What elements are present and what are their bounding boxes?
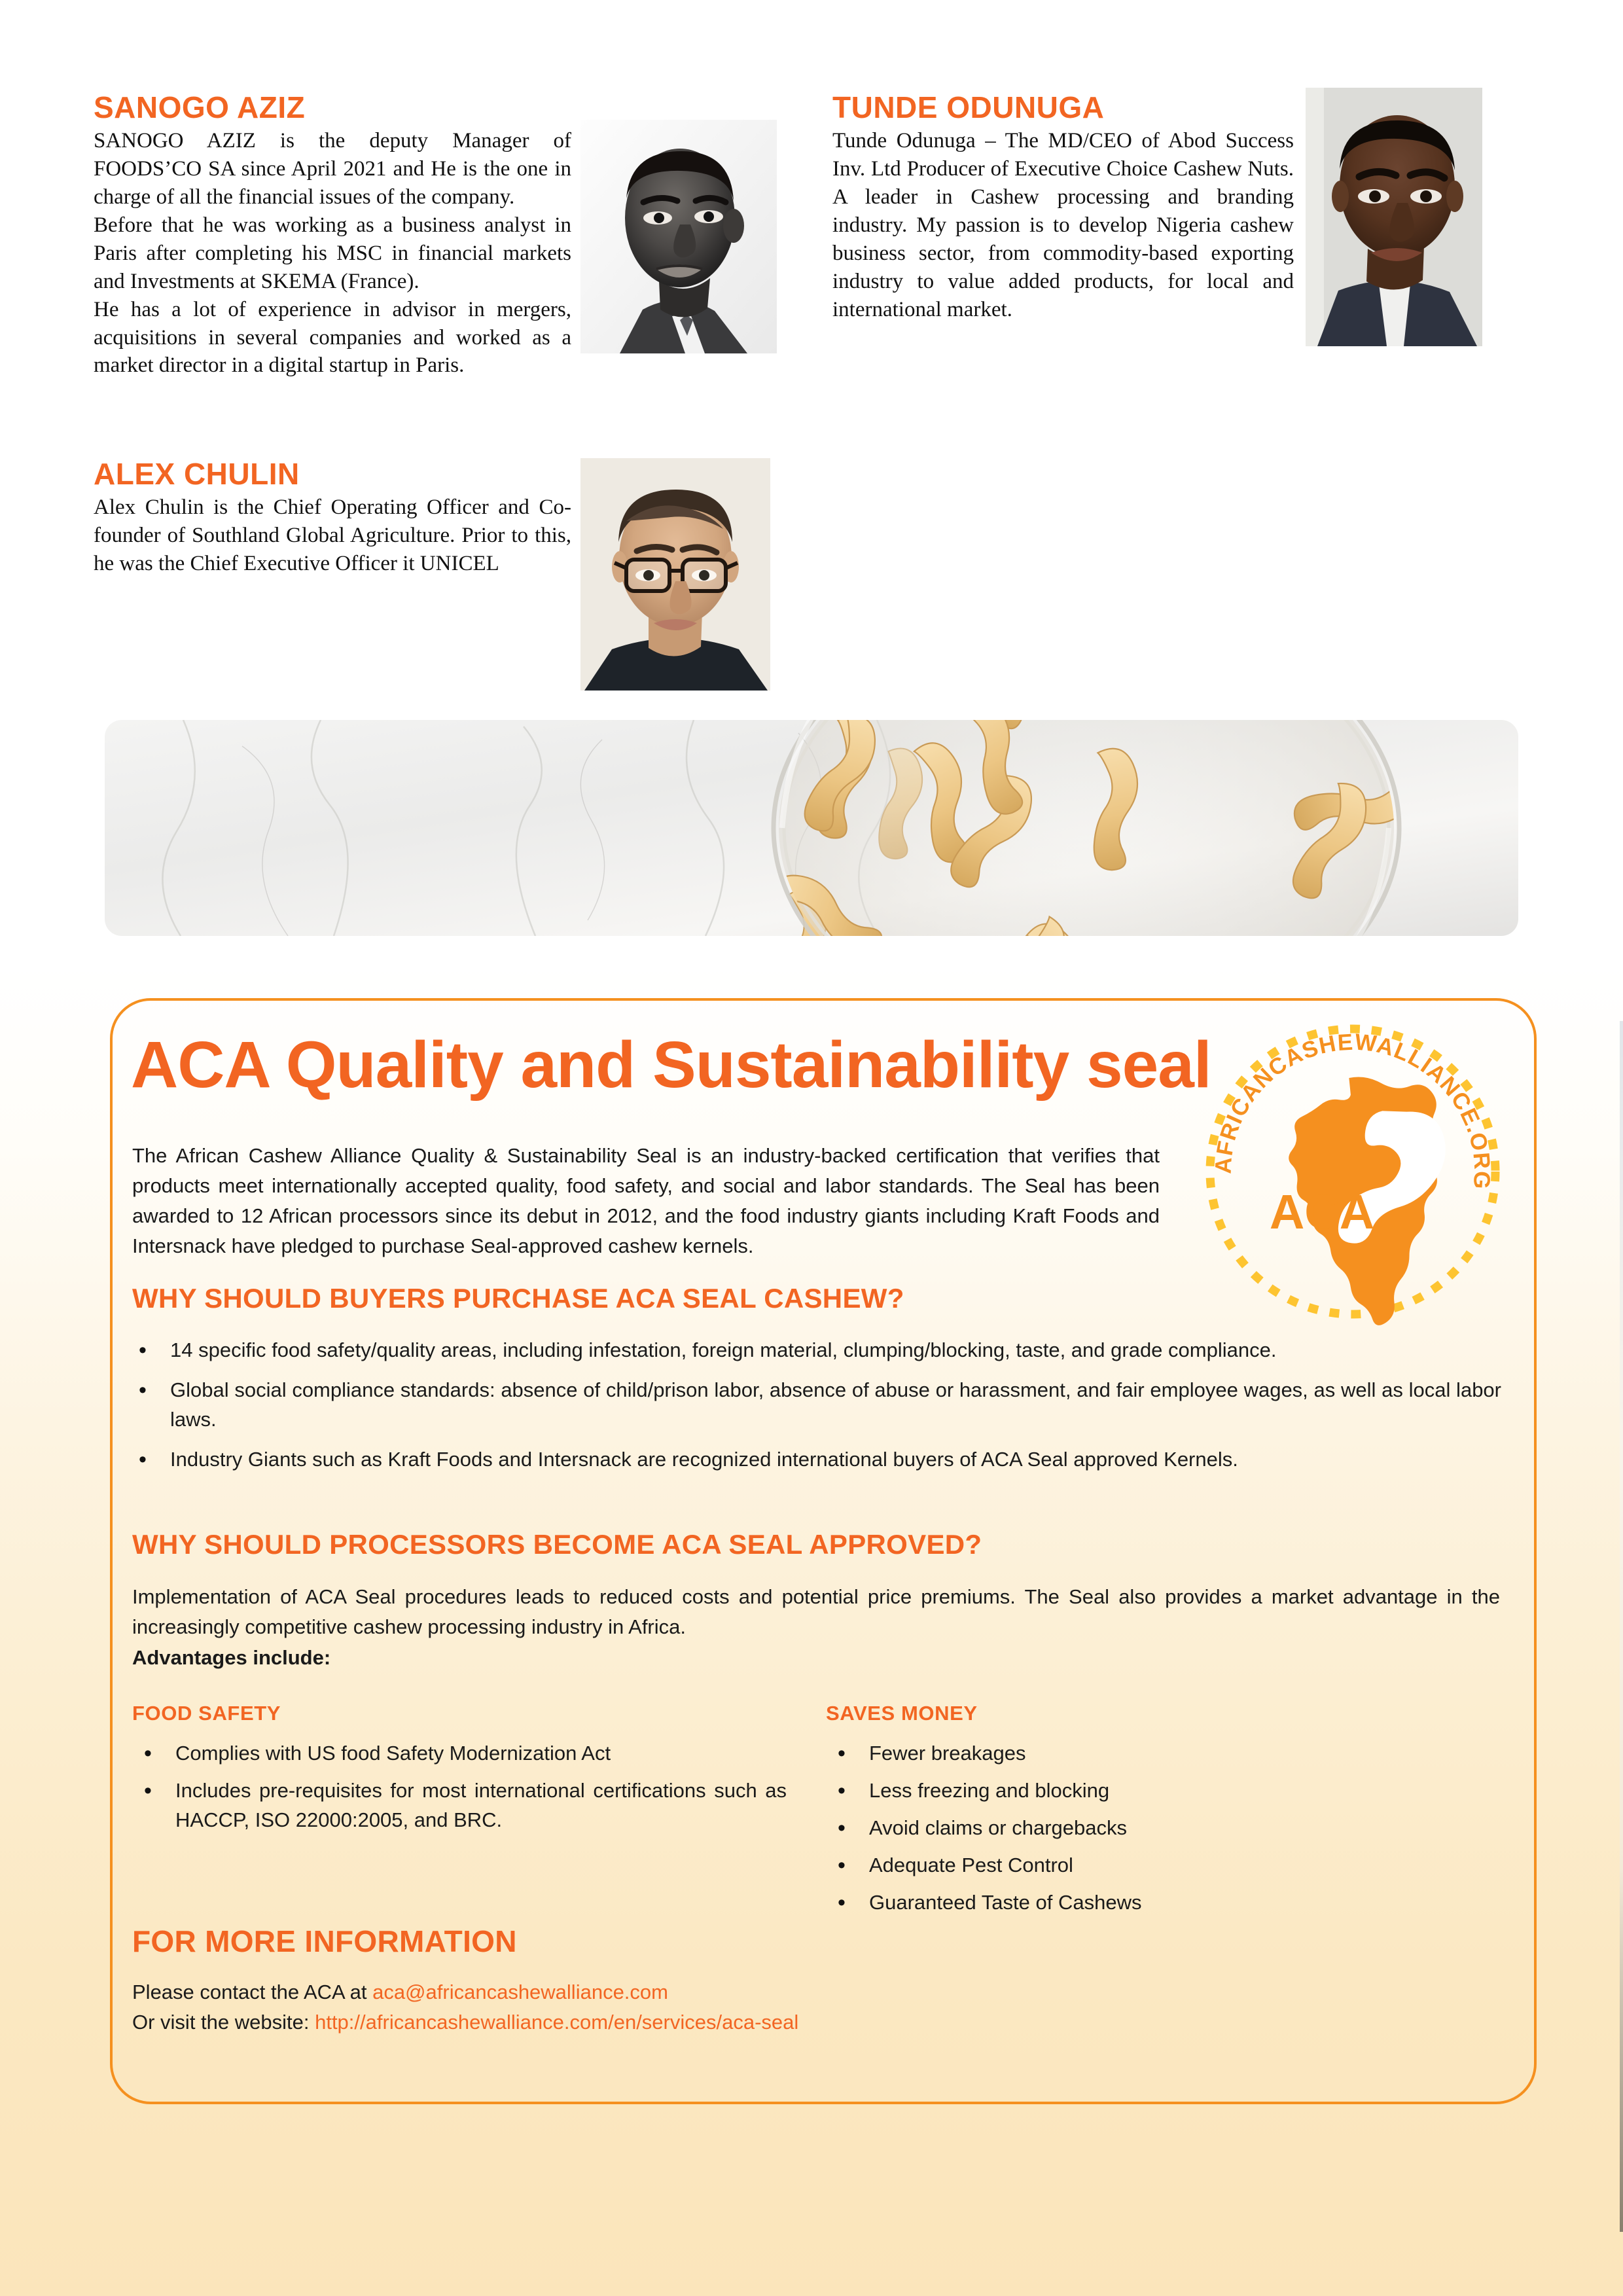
bio-name-tunde-odunuga: TUNDE ODUNUGA — [832, 92, 1294, 123]
bio-text-sanogo-aziz: SANOGO AZIZ is the deputy Manager of FOO… — [94, 127, 571, 380]
bio-block-alex-chulin: ALEX CHULIN Alex Chulin is the Chief Ope… — [94, 458, 571, 578]
list-item: Fewer breakages — [826, 1739, 1415, 1768]
bio-paragraph: SANOGO AZIZ is the deputy Manager of FOO… — [94, 127, 571, 211]
list-item: Includes pre-requisites for most interna… — [132, 1776, 787, 1835]
website-link[interactable]: http://africancashewalliance.com/en/serv… — [315, 2011, 798, 2034]
contact-prefix: Please contact the ACA at — [132, 1981, 372, 2003]
page-edge-artifact — [1620, 1021, 1623, 2232]
seal-intro-paragraph: The African Cashew Alliance Quality & Su… — [132, 1141, 1160, 1261]
buyers-bullet-list: 14 specific food safety/quality areas, i… — [127, 1336, 1501, 1485]
bio-text-tunde-odunuga: Tunde Odunuga – The MD/CEO of Abod Succe… — [832, 127, 1294, 323]
portrait-photo-sanogo-aziz — [580, 120, 777, 353]
cashew-banner-image — [105, 720, 1518, 936]
contact-email-link[interactable]: aca@africancashewalliance.com — [372, 1981, 668, 2003]
bio-block-sanogo-aziz: SANOGO AZIZ SANOGO AZIZ is the deputy Ma… — [94, 92, 571, 380]
portrait-photo-alex-chulin — [580, 458, 770, 691]
poster-page: SANOGO AZIZ SANOGO AZIZ is the deputy Ma… — [0, 0, 1623, 2296]
list-item: 14 specific food safety/quality areas, i… — [127, 1336, 1501, 1365]
advantages-column-saves-money: SAVES MONEY Fewer breakages Less freezin… — [826, 1702, 1415, 1926]
website-line: Or visit the website: http://africancash… — [132, 2007, 798, 2038]
bio-paragraph: He has a lot of experience in advisor in… — [94, 296, 571, 380]
aca-seal-card: ACA Quality and Sustainability seal AFRI… — [110, 998, 1537, 2104]
list-item: Global social compliance standards: abse… — [127, 1376, 1501, 1435]
website-prefix: Or visit the website: — [132, 2011, 315, 2034]
page-title: ACA Quality and Sustainability seal — [131, 1032, 1211, 1098]
processors-heading: WHY SHOULD PROCESSORS BECOME ACA SEAL AP… — [132, 1530, 1310, 1560]
bio-paragraph: Tunde Odunuga – The MD/CEO of Abod Succe… — [832, 127, 1294, 323]
list-item: Avoid claims or chargebacks — [826, 1814, 1415, 1843]
list-item: Industry Giants such as Kraft Foods and … — [127, 1445, 1501, 1475]
advantages-label: Advantages include: — [132, 1646, 330, 1670]
list-item: Less freezing and blocking — [826, 1776, 1415, 1806]
logo-acronym: ACA — [1270, 1185, 1374, 1239]
bio-block-tunde-odunuga: TUNDE ODUNUGA Tunde Odunuga – The MD/CEO… — [832, 92, 1294, 324]
list-item: Complies with US food Safety Modernizati… — [132, 1739, 787, 1768]
list-item: Guaranteed Taste of Cashews — [826, 1888, 1415, 1918]
more-info-heading: FOR MORE INFORMATION — [132, 1925, 517, 1958]
list-item: Adequate Pest Control — [826, 1851, 1415, 1880]
column-heading-saves-money: SAVES MONEY — [826, 1702, 1415, 1725]
processors-body: Implementation of ACA Seal procedures le… — [132, 1582, 1500, 1642]
portrait-photo-tunde-odunuga — [1306, 88, 1482, 346]
buyers-heading: WHY SHOULD BUYERS PURCHASE ACA SEAL CASH… — [132, 1283, 1205, 1314]
contact-email-line: Please contact the ACA at aca@africancas… — [132, 1977, 668, 2008]
aca-logo: AFRICANCASHEWALLIANCE.ORG ACA — [1199, 1018, 1507, 1325]
advantages-column-food-safety: FOOD SAFETY Complies with US food Safety… — [132, 1702, 787, 1843]
bio-name-sanogo-aziz: SANOGO AZIZ — [94, 92, 571, 123]
bio-paragraph: Before that he was working as a business… — [94, 211, 571, 296]
bio-paragraph: Alex Chulin is the Chief Operating Offic… — [94, 493, 571, 578]
column-heading-food-safety: FOOD SAFETY — [132, 1702, 787, 1725]
bio-text-alex-chulin: Alex Chulin is the Chief Operating Offic… — [94, 493, 571, 578]
bio-name-alex-chulin: ALEX CHULIN — [94, 458, 571, 490]
